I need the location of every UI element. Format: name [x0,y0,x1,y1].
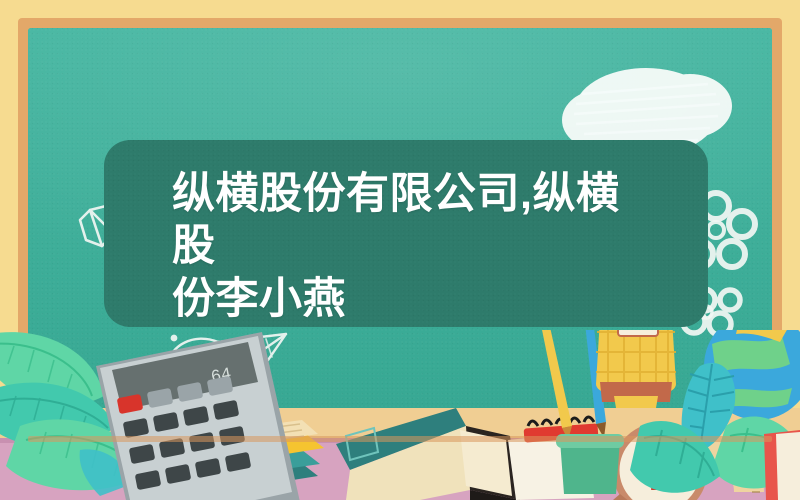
poster-image: 纵横股份有限公司,纵横股 份李小燕 [0,0,800,500]
board-tray [28,436,772,442]
headline-line-1: 纵横股份有限公司,纵横股 [172,168,642,273]
desk-and-stationery-illustration: 64 [0,330,800,500]
headline-line-2: 份李小燕 [172,273,642,325]
pencil-cup [556,434,624,494]
page-title: 纵横股份有限公司,纵横股 份李小燕 [172,168,642,325]
backpack [596,330,676,408]
backpack-name-tag [618,330,658,336]
calculator: 64 [96,332,300,500]
